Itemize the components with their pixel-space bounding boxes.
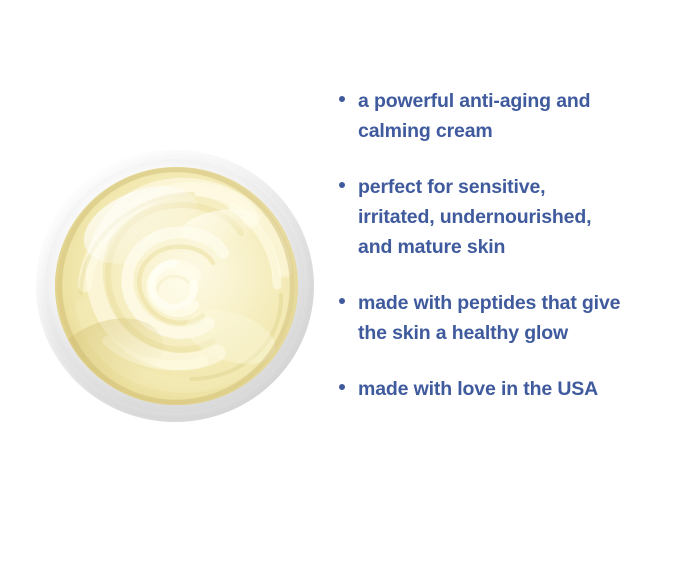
- list-item: made with peptides that give the skin a …: [336, 288, 666, 348]
- feature-text: made with love in the USA: [358, 374, 666, 404]
- list-item: perfect for sensitive, irritated, undern…: [336, 172, 666, 262]
- feature-text: a powerful anti-aging and calming cream: [358, 86, 666, 146]
- cream-surface: [55, 167, 298, 405]
- bullet-icon: [339, 298, 345, 304]
- product-feature-graphic: a powerful anti-aging and calming cream …: [0, 0, 679, 580]
- feature-text: perfect for sensitive, irritated, undern…: [358, 172, 666, 262]
- list-item: made with love in the USA: [336, 374, 666, 404]
- product-image-jar-of-cream: [36, 150, 314, 422]
- bullet-icon: [339, 96, 345, 102]
- list-item: a powerful anti-aging and calming cream: [336, 86, 666, 146]
- bullet-icon: [339, 182, 345, 188]
- feature-text: made with peptides that give the skin a …: [358, 288, 666, 348]
- feature-list: a powerful anti-aging and calming cream …: [336, 86, 666, 404]
- bullet-icon: [339, 384, 345, 390]
